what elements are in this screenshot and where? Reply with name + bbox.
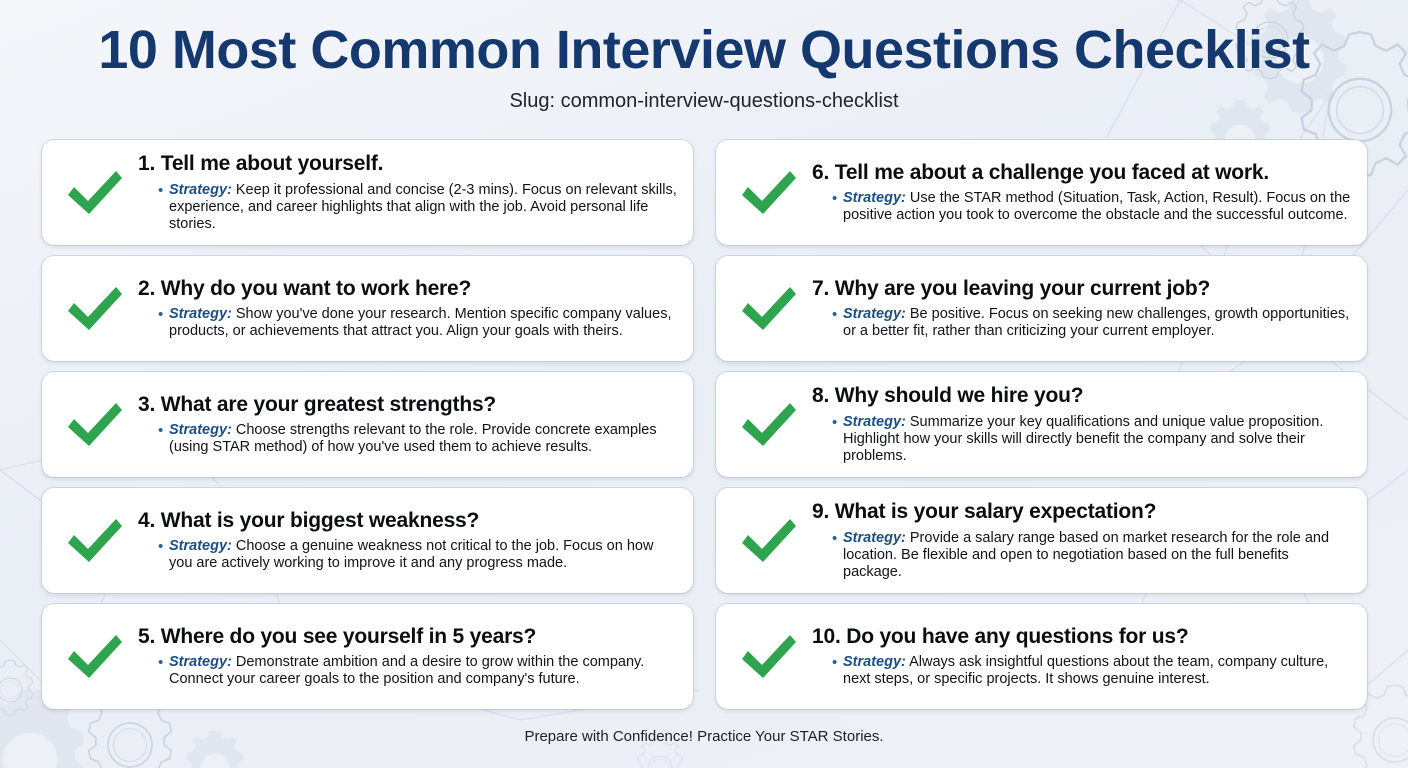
checklist-card[interactable]: 6. Tell me about a challenge you faced a… [716, 140, 1367, 245]
checklist-card[interactable]: 5. Where do you see yourself in 5 years?… [42, 604, 693, 709]
card-body: 9. What is your salary expectation? • St… [812, 500, 1353, 580]
question-title: 1. Tell me about yourself. [138, 152, 677, 176]
strategy-text: Strategy: Keep it professional and conci… [169, 182, 677, 233]
check-mark-icon [52, 166, 138, 220]
question-title: 5. Where do you see yourself in 5 years? [138, 625, 677, 649]
card-body: 5. Where do you see yourself in 5 years?… [138, 625, 679, 688]
checklist-grid: 1. Tell me about yourself. • Strategy: K… [42, 140, 1367, 709]
bullet-icon: • [832, 306, 843, 340]
check-mark-icon [726, 282, 812, 336]
check-mark-icon [726, 166, 812, 220]
card-body: 10. Do you have any questions for us? • … [812, 625, 1353, 688]
check-mark-icon [726, 514, 812, 568]
check-mark-icon [726, 630, 812, 684]
strategy-text: Strategy: Show you've done your research… [169, 306, 677, 340]
strategy-text: Strategy: Demonstrate ambition and a des… [169, 654, 677, 688]
question-title: 9. What is your salary expectation? [812, 500, 1351, 524]
footer-text: Prepare with Confidence! Practice Your S… [0, 728, 1408, 745]
strategy-row: • Strategy: Always ask insightful questi… [812, 654, 1351, 688]
card-body: 3. What are your greatest strengths? • S… [138, 393, 679, 456]
strategy-text: Strategy: Always ask insightful question… [843, 654, 1351, 688]
bullet-icon: • [158, 422, 169, 456]
checklist-card[interactable]: 7. Why are you leaving your current job?… [716, 256, 1367, 361]
strategy-row: • Strategy: Provide a salary range based… [812, 530, 1351, 581]
strategy-row: • Strategy: Be positive. Focus on seekin… [812, 306, 1351, 340]
bullet-icon: • [158, 306, 169, 340]
strategy-body: Be positive. Focus on seeking new challe… [843, 306, 1349, 339]
strategy-text: Strategy: Choose strengths relevant to t… [169, 422, 677, 456]
strategy-text: Strategy: Summarize your key qualificati… [843, 414, 1351, 465]
strategy-label: Strategy: [843, 190, 906, 206]
strategy-label: Strategy: [169, 538, 232, 554]
strategy-row: • Strategy: Choose a genuine weakness no… [138, 538, 677, 572]
page-title: 10 Most Common Interview Questions Check… [0, 22, 1408, 79]
checklist-card[interactable]: 4. What is your biggest weakness? • Stra… [42, 488, 693, 593]
question-title: 10. Do you have any questions for us? [812, 625, 1351, 649]
bullet-icon: • [832, 654, 843, 688]
check-mark-icon [52, 630, 138, 684]
card-body: 1. Tell me about yourself. • Strategy: K… [138, 152, 679, 232]
bullet-icon: • [832, 414, 843, 465]
question-title: 2. Why do you want to work here? [138, 277, 677, 301]
check-mark-icon [52, 282, 138, 336]
strategy-body: Show you've done your research. Mention … [169, 306, 671, 339]
strategy-body: Use the STAR method (Situation, Task, Ac… [843, 190, 1350, 223]
checklist-card[interactable]: 9. What is your salary expectation? • St… [716, 488, 1367, 593]
strategy-body: Provide a salary range based on market r… [843, 530, 1329, 580]
strategy-label: Strategy: [843, 530, 906, 546]
strategy-text: Strategy: Use the STAR method (Situation… [843, 190, 1351, 224]
strategy-text: Strategy: Be positive. Focus on seeking … [843, 306, 1351, 340]
bullet-icon: • [832, 530, 843, 581]
card-body: 2. Why do you want to work here? • Strat… [138, 277, 679, 340]
strategy-row: • Strategy: Choose strengths relevant to… [138, 422, 677, 456]
strategy-label: Strategy: [169, 654, 232, 670]
checklist-card[interactable]: 8. Why should we hire you? • Strategy: S… [716, 372, 1367, 477]
strategy-row: • Strategy: Summarize your key qualifica… [812, 414, 1351, 465]
strategy-label: Strategy: [843, 414, 906, 430]
strategy-label: Strategy: [843, 306, 906, 322]
card-body: 4. What is your biggest weakness? • Stra… [138, 509, 679, 572]
slug-subtitle: Slug: common-interview-questions-checkli… [0, 90, 1408, 113]
checklist-card[interactable]: 2. Why do you want to work here? • Strat… [42, 256, 693, 361]
strategy-label: Strategy: [169, 422, 232, 438]
strategy-body: Choose a genuine weakness not critical t… [169, 538, 653, 571]
strategy-row: • Strategy: Keep it professional and con… [138, 182, 677, 233]
card-body: 7. Why are you leaving your current job?… [812, 277, 1353, 340]
card-body: 8. Why should we hire you? • Strategy: S… [812, 384, 1353, 464]
question-title: 7. Why are you leaving your current job? [812, 277, 1351, 301]
strategy-label: Strategy: [169, 306, 232, 322]
strategy-body: Keep it professional and concise (2-3 mi… [169, 182, 677, 232]
strategy-row: • Strategy: Use the STAR method (Situati… [812, 190, 1351, 224]
strategy-body: Choose strengths relevant to the role. P… [169, 422, 657, 455]
checklist-card[interactable]: 3. What are your greatest strengths? • S… [42, 372, 693, 477]
bullet-icon: • [832, 190, 843, 224]
strategy-text: Strategy: Provide a salary range based o… [843, 530, 1351, 581]
bullet-icon: • [158, 654, 169, 688]
check-mark-icon [52, 514, 138, 568]
strategy-row: • Strategy: Demonstrate ambition and a d… [138, 654, 677, 688]
checklist-card[interactable]: 10. Do you have any questions for us? • … [716, 604, 1367, 709]
header: 10 Most Common Interview Questions Check… [0, 0, 1408, 113]
strategy-row: • Strategy: Show you've done your resear… [138, 306, 677, 340]
strategy-label: Strategy: [843, 654, 906, 670]
question-title: 8. Why should we hire you? [812, 384, 1351, 408]
strategy-text: Strategy: Choose a genuine weakness not … [169, 538, 677, 572]
strategy-body: Demonstrate ambition and a desire to gro… [169, 654, 644, 687]
bullet-icon: • [158, 182, 169, 233]
check-mark-icon [52, 398, 138, 452]
bullet-icon: • [158, 538, 169, 572]
strategy-body: Summarize your key qualifications and un… [843, 414, 1323, 464]
strategy-label: Strategy: [169, 182, 232, 198]
question-title: 6. Tell me about a challenge you faced a… [812, 161, 1351, 185]
question-title: 4. What is your biggest weakness? [138, 509, 677, 533]
question-title: 3. What are your greatest strengths? [138, 393, 677, 417]
checklist-card[interactable]: 1. Tell me about yourself. • Strategy: K… [42, 140, 693, 245]
infographic-page: 10 Most Common Interview Questions Check… [0, 0, 1408, 768]
card-body: 6. Tell me about a challenge you faced a… [812, 161, 1353, 224]
strategy-body: Always ask insightful questions about th… [843, 654, 1328, 687]
check-mark-icon [726, 398, 812, 452]
